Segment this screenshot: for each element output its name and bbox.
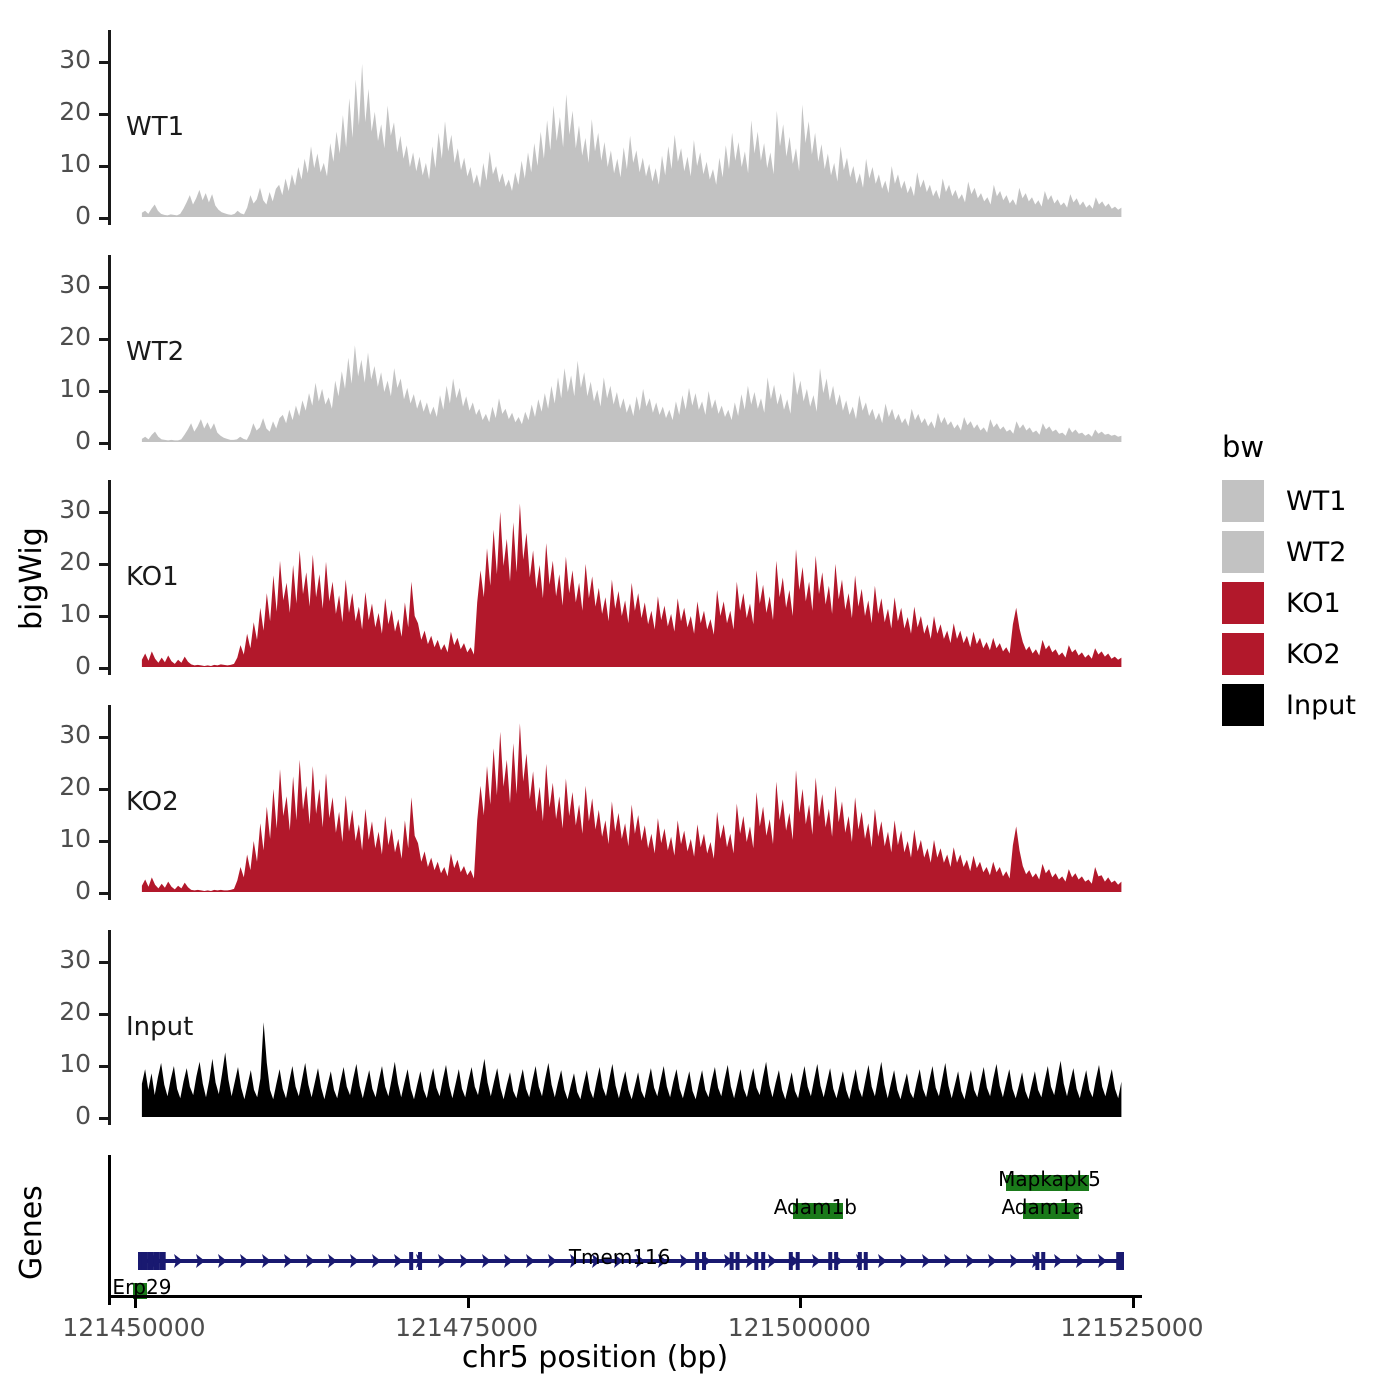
legend-swatch-wt2 [1222, 531, 1264, 573]
y-tick [99, 442, 108, 445]
legend-label-input: Input [1286, 690, 1356, 721]
y-tick-label: 10 [5, 599, 91, 628]
y-tick [99, 892, 108, 895]
legend-item-ko2[interactable]: KO2 [1222, 633, 1341, 675]
y-tick [99, 61, 108, 64]
gene-label-mapkapk5: Mapkapk5 [998, 1167, 1101, 1191]
x-tick [799, 1298, 802, 1308]
y-tick-label: 10 [5, 149, 91, 178]
y-tick [99, 1117, 108, 1120]
y-tick-label: 20 [5, 322, 91, 351]
track-panel-ko2: 0102030KO2 [0, 705, 1400, 900]
coverage-area-wt2 [110, 255, 1140, 442]
x-tick [1132, 1298, 1135, 1308]
y-tick [99, 338, 108, 341]
y-tick-label: 20 [5, 772, 91, 801]
y-tick-label: 10 [5, 1049, 91, 1078]
y-tick-label: 20 [5, 97, 91, 126]
x-tick-label: 121525000 [1012, 1313, 1252, 1342]
legend-swatch-input [1222, 684, 1264, 726]
y-tick [99, 788, 108, 791]
y-tick-label: 30 [5, 270, 91, 299]
y-tick-label: 0 [5, 201, 91, 230]
y-tick-label: 10 [5, 824, 91, 853]
legend-item-wt2[interactable]: WT2 [1222, 531, 1346, 573]
track-panel-wt1: 0102030WT1 [0, 30, 1400, 225]
legend-swatch-wt1 [1222, 480, 1264, 522]
x-axis-line [110, 1295, 1142, 1298]
x-tick-label: 121500000 [679, 1313, 919, 1342]
plot-root: bigWig Genes 0102030WT10102030WT20102030… [0, 0, 1400, 1400]
legend-label-ko1: KO1 [1286, 588, 1341, 619]
gene-label-adam1b: Adam1b [774, 1195, 857, 1219]
y-tick-label: 0 [5, 876, 91, 905]
legend-label-ko2: KO2 [1286, 639, 1341, 670]
legend-item-input[interactable]: Input [1222, 684, 1356, 726]
y-tick [99, 563, 108, 566]
x-tick [134, 1298, 137, 1308]
y-tick [99, 511, 108, 514]
y-tick-label: 20 [5, 547, 91, 576]
y-tick-label: 30 [5, 945, 91, 974]
coverage-area-wt1 [110, 30, 1140, 217]
y-tick [99, 390, 108, 393]
y-tick [99, 165, 108, 168]
legend-item-wt1[interactable]: WT1 [1222, 480, 1346, 522]
y-tick-label: 10 [5, 374, 91, 403]
y-tick-label: 30 [5, 45, 91, 74]
genes-axis-line [108, 1155, 111, 1305]
y-tick-label: 30 [5, 720, 91, 749]
track-panel-wt2: 0102030WT2 [0, 255, 1400, 450]
y-tick-label: 20 [5, 997, 91, 1026]
y-tick-label: 0 [5, 426, 91, 455]
coverage-area-input [110, 930, 1140, 1117]
genes-track-panel: Tmem116Erp29Adam1bMapkapk5Adam1a [0, 1140, 1400, 1340]
x-axis-title: chr5 position (bp) [0, 1340, 1190, 1375]
y-tick [99, 961, 108, 964]
gene-label-adam1a: Adam1a [1001, 1195, 1084, 1219]
gene-label-tmem116: Tmem116 [569, 1245, 671, 1269]
track-panel-input: 0102030Input [0, 930, 1400, 1125]
legend-swatch-ko2 [1222, 633, 1264, 675]
y-tick [99, 667, 108, 670]
x-tick [467, 1298, 470, 1308]
x-tick-label: 121450000 [14, 1313, 254, 1342]
y-tick-label: 0 [5, 1101, 91, 1130]
coverage-area-ko2 [110, 705, 1140, 892]
y-tick [99, 217, 108, 220]
y-tick [99, 113, 108, 116]
legend-label-wt1: WT1 [1286, 486, 1346, 517]
y-tick [99, 615, 108, 618]
y-tick [99, 840, 108, 843]
x-tick-label: 121475000 [347, 1313, 587, 1342]
legend-item-ko1[interactable]: KO1 [1222, 582, 1341, 624]
y-tick-label: 30 [5, 495, 91, 524]
y-tick [99, 1013, 108, 1016]
track-panel-ko1: 0102030KO1 [0, 480, 1400, 675]
legend-label-wt2: WT2 [1286, 537, 1346, 568]
coverage-area-ko1 [110, 480, 1140, 667]
legend-title: bw [1222, 430, 1264, 464]
y-tick [99, 1065, 108, 1068]
y-tick-label: 0 [5, 651, 91, 680]
legend-swatch-ko1 [1222, 582, 1264, 624]
y-tick [99, 286, 108, 289]
y-tick [99, 736, 108, 739]
